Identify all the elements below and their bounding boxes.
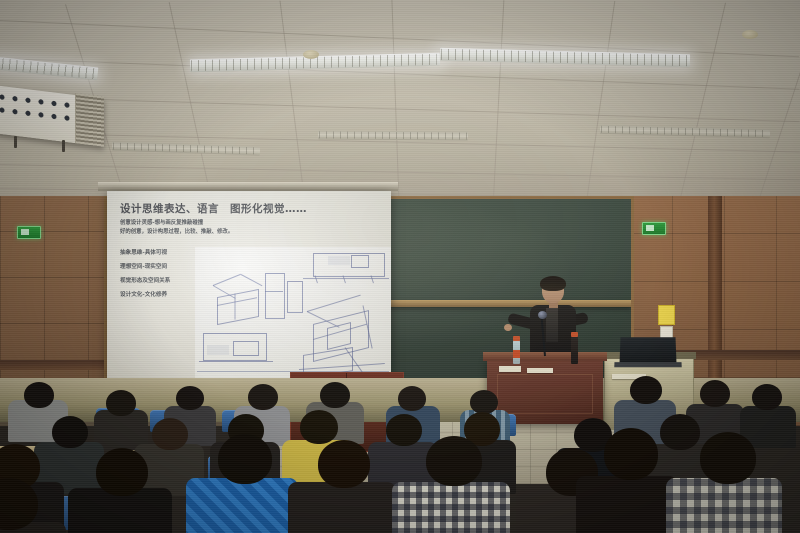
ceiling: [0, 0, 800, 205]
presenter-hair: [540, 276, 566, 291]
slide-subtitle-2: 好的创意，设计构思过程，比较、推敲、修改。: [120, 227, 233, 235]
slide-bullet-2: 理想空间-现实空间: [120, 262, 167, 270]
presenter-hand: [504, 324, 512, 331]
projector-vent: [75, 93, 104, 147]
projector-mount-arm: [14, 136, 17, 148]
lecture-hall-photo: 设计思维表达、语言 图形化视觉…… 创意设计灵感-想与画反复推敲碰撞 好的创意，…: [0, 0, 800, 533]
slide-bullet-1: 抽象思维-具体可视: [120, 248, 167, 256]
laptop[interactable]: [620, 337, 677, 363]
screen-roller: [98, 182, 398, 191]
slide-bullet-3: 视觉形态及空间关系: [120, 276, 170, 284]
ceiling-light-fixture: [600, 125, 770, 138]
wall-notice: [658, 305, 675, 325]
slide-title: 设计思维表达、语言 图形化视觉……: [120, 201, 307, 216]
water-bottle: [513, 340, 520, 364]
slide-subtitle-1: 创意设计灵感-想与画反复推敲碰撞: [120, 218, 203, 226]
wall-base-band: [0, 360, 120, 370]
dark-bottle: [571, 336, 578, 364]
microphone-head-icon: [538, 311, 547, 319]
presenter-shirt: [546, 308, 558, 342]
slide-bullet-4: 设计文化-文化修养: [120, 290, 167, 298]
smoke-detector: [303, 50, 319, 59]
projection-screen: 设计思维表达、语言 图形化视觉…… 创意设计灵感-想与画反复推敲碰撞 好的创意，…: [107, 191, 391, 387]
projector-vent-dots: [0, 93, 76, 129]
projector-mount-arm: [62, 140, 65, 152]
ceiling-light-fixture: [318, 130, 468, 140]
exit-sign-icon: [642, 222, 666, 235]
exit-sign-icon: [17, 226, 41, 239]
ceiling-light-fixture: [112, 141, 260, 155]
slide-sketch-image: [195, 247, 391, 385]
smoke-detector: [742, 30, 758, 39]
audience: [0, 370, 800, 533]
